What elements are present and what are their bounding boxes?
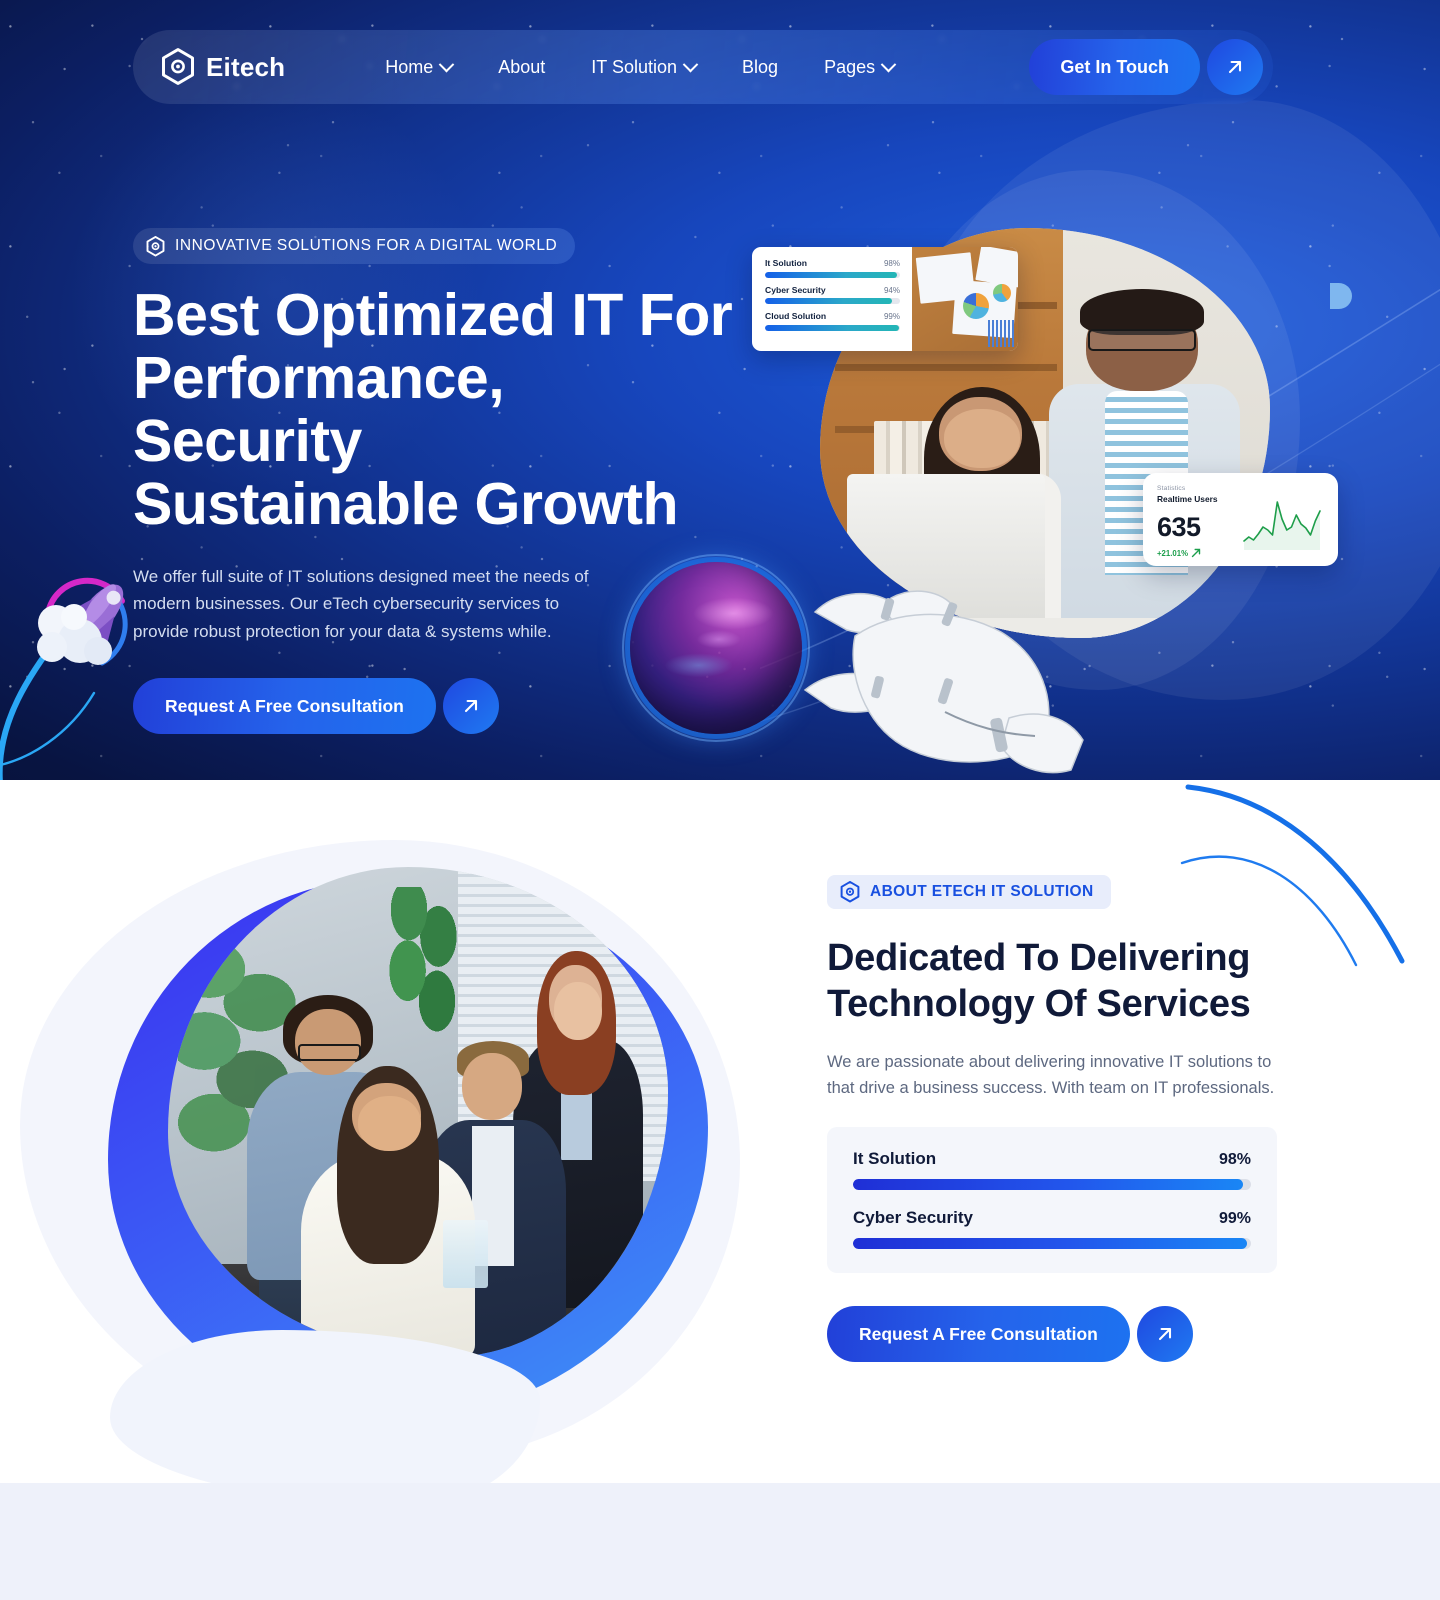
hero-section: Eitech Home About IT Solution Blog Pages bbox=[0, 0, 1440, 780]
skill-track bbox=[853, 1179, 1251, 1190]
navbar-cta-group: Get In Touch bbox=[1029, 39, 1263, 95]
stats-title: Realtime Users bbox=[1157, 494, 1240, 504]
nav-item-about[interactable]: About bbox=[475, 57, 568, 78]
about-title: Dedicated To Delivering Technology Of Se… bbox=[827, 936, 1347, 1027]
about-badge: ABOUT ETECH IT SOLUTION bbox=[827, 875, 1111, 909]
brand-name: Eitech bbox=[206, 52, 285, 83]
hexagon-logo-icon bbox=[840, 881, 860, 903]
progress-row: It Solution 98% bbox=[765, 258, 900, 278]
nav-item-home[interactable]: Home bbox=[362, 57, 475, 78]
stats-value: 635 bbox=[1157, 514, 1240, 541]
hero-stats-card: Statistics Realtime Users 635 +21.01% bbox=[1143, 473, 1338, 566]
progress-percent: 99% bbox=[884, 312, 900, 321]
brand-logo[interactable]: Eitech bbox=[161, 48, 285, 86]
progress-track bbox=[765, 325, 900, 331]
arrow-up-right-icon bbox=[1154, 1323, 1176, 1345]
about-copy: ABOUT ETECH IT SOLUTION Dedicated To Del… bbox=[827, 875, 1347, 1362]
about-badge-label: ABOUT ETECH IT SOLUTION bbox=[870, 883, 1094, 901]
about-request-consultation-arrow-button[interactable] bbox=[1137, 1306, 1193, 1362]
stats-delta: +21.01% bbox=[1157, 548, 1240, 558]
progress-row: Cloud Solution 99% bbox=[765, 311, 900, 331]
skill-track bbox=[853, 1238, 1251, 1249]
hero-eyebrow-badge: INNOVATIVE SOLUTIONS FOR A DIGITAL WORLD bbox=[133, 228, 575, 264]
skill-label: It Solution bbox=[853, 1149, 936, 1169]
progress-track bbox=[765, 272, 900, 278]
hero-progress-card: It Solution 98% Cyber Security 94% Clo bbox=[752, 247, 1018, 351]
bottom-strip bbox=[0, 1483, 1440, 1600]
nav-item-blog[interactable]: Blog bbox=[719, 57, 801, 78]
skill-row: Cyber Security 99% bbox=[853, 1208, 1251, 1249]
hero-request-consultation-button[interactable]: Request A Free Consultation bbox=[133, 678, 436, 734]
hexagon-logo-icon bbox=[161, 48, 195, 86]
hero-title-line-1: Best Optimized IT For bbox=[133, 284, 733, 347]
skill-percent: 99% bbox=[1219, 1210, 1251, 1228]
stats-text: Statistics Realtime Users 635 +21.01% bbox=[1157, 485, 1240, 554]
skill-label: Cyber Security bbox=[853, 1208, 973, 1228]
progress-fill bbox=[765, 325, 899, 331]
chevron-down-icon bbox=[881, 56, 897, 72]
progress-card-thumbnail bbox=[912, 247, 1018, 351]
about-team-photo bbox=[168, 867, 668, 1357]
stats-kicker: Statistics bbox=[1157, 485, 1240, 492]
progress-percent: 94% bbox=[884, 286, 900, 295]
nav-links: Home About IT Solution Blog Pages bbox=[362, 57, 917, 78]
moon-decoration bbox=[1330, 283, 1352, 309]
hero-request-consultation-arrow-button[interactable] bbox=[443, 678, 499, 734]
hero-title-line-3: Sustainable Growth bbox=[133, 473, 733, 536]
about-request-consultation-button[interactable]: Request A Free Consultation bbox=[827, 1306, 1130, 1362]
get-in-touch-arrow-button[interactable] bbox=[1207, 39, 1263, 95]
skill-fill bbox=[853, 1238, 1247, 1249]
chevron-down-icon bbox=[439, 56, 455, 72]
progress-label: Cloud Solution bbox=[765, 311, 826, 321]
hexagon-logo-icon bbox=[146, 236, 165, 257]
about-cta-group: Request A Free Consultation bbox=[827, 1306, 1347, 1362]
hero-title: Best Optimized IT For Performance, Secur… bbox=[133, 284, 733, 537]
nav-item-label: IT Solution bbox=[591, 57, 677, 78]
nav-item-label: Blog bbox=[742, 57, 778, 78]
about-title-line-2: Technology Of Services bbox=[827, 982, 1347, 1028]
nav-item-pages[interactable]: Pages bbox=[801, 57, 917, 78]
progress-fill bbox=[765, 298, 892, 304]
stats-sparkline bbox=[1240, 485, 1324, 554]
sparkline-chart bbox=[1240, 496, 1324, 554]
progress-track bbox=[765, 298, 900, 304]
hero-title-line-2: Performance, Security bbox=[133, 347, 733, 473]
skill-row: It Solution 98% bbox=[853, 1149, 1251, 1190]
trend-up-icon bbox=[1191, 548, 1201, 558]
hero-eyebrow-label: INNOVATIVE SOLUTIONS FOR A DIGITAL WORLD bbox=[175, 237, 557, 255]
nav-item-it-solution[interactable]: IT Solution bbox=[568, 57, 719, 78]
globe-illustration bbox=[630, 562, 802, 734]
photo-keyboard bbox=[937, 618, 1198, 639]
progress-percent: 98% bbox=[884, 259, 900, 268]
about-skills-panel: It Solution 98% Cyber Security 99% bbox=[827, 1127, 1277, 1273]
progress-label: Cyber Security bbox=[765, 285, 826, 295]
progress-label: It Solution bbox=[765, 258, 807, 268]
stats-delta-value: +21.01% bbox=[1157, 549, 1188, 558]
photo-monitor bbox=[847, 474, 1045, 638]
arrow-up-right-icon bbox=[460, 695, 482, 717]
about-title-line-1: Dedicated To Delivering bbox=[827, 936, 1347, 982]
photo-person-standing bbox=[1045, 285, 1252, 638]
get-in-touch-button[interactable]: Get In Touch bbox=[1029, 39, 1200, 95]
skill-percent: 98% bbox=[1219, 1151, 1251, 1169]
hero-progress-list: It Solution 98% Cyber Security 94% Clo bbox=[752, 247, 912, 351]
main-navbar: Eitech Home About IT Solution Blog Pages bbox=[133, 30, 1273, 104]
nav-item-label: About bbox=[498, 57, 545, 78]
photo-water-glass bbox=[443, 1220, 488, 1289]
progress-row: Cyber Security 94% bbox=[765, 285, 900, 305]
progress-fill bbox=[765, 272, 897, 278]
about-description: We are passionate about delivering innov… bbox=[827, 1049, 1277, 1101]
nav-item-label: Pages bbox=[824, 57, 875, 78]
nav-item-label: Home bbox=[385, 57, 433, 78]
arrow-up-right-icon bbox=[1224, 56, 1246, 78]
skill-fill bbox=[853, 1179, 1243, 1190]
chevron-down-icon bbox=[683, 56, 699, 72]
hero-description: We offer full suite of IT solutions desi… bbox=[133, 563, 605, 646]
photo-person-seated-woman bbox=[313, 1083, 463, 1357]
